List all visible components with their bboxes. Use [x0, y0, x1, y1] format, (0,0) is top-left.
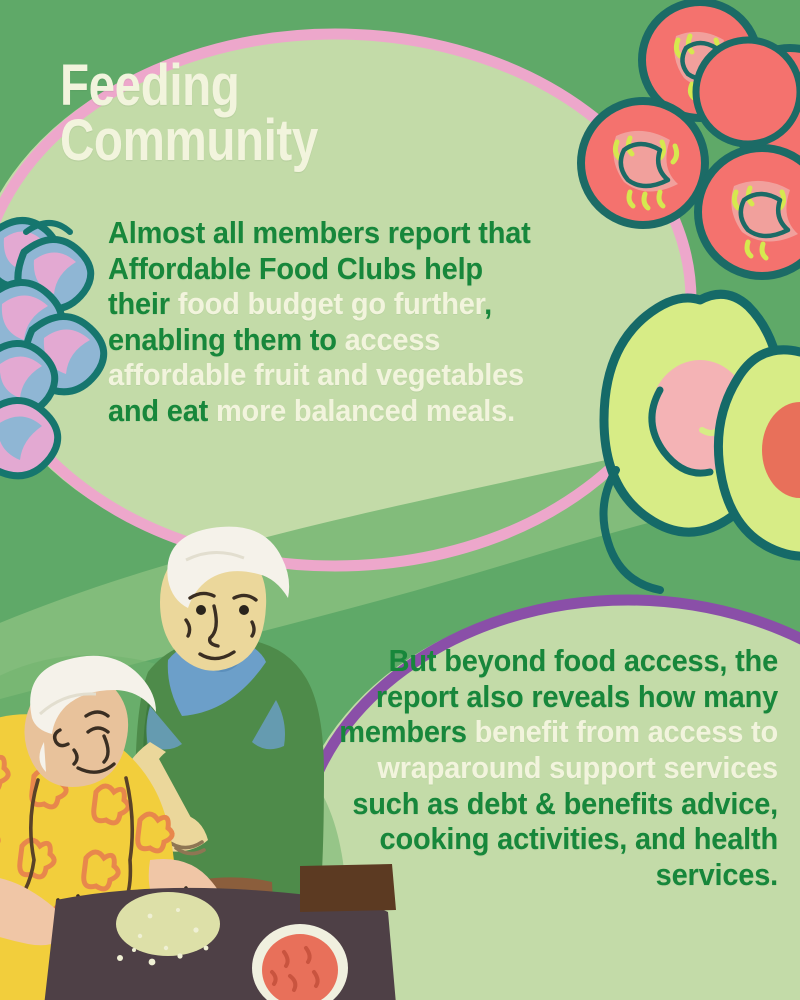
poster-canvas: Feeding Community Almost all members rep… — [0, 0, 800, 1000]
text-segment: more balanced meals. — [208, 394, 515, 428]
page-title: Feeding Community — [60, 58, 318, 168]
text-segment: food budget go further — [178, 287, 484, 321]
paragraph-wraparound-support: But beyond food access, the report also … — [339, 644, 778, 894]
paragraph-food-budget: Almost all members report that Affordabl… — [108, 216, 537, 429]
text-segment: enabling them to — [108, 323, 337, 357]
text-segment: such as debt & benefits advice, cooking … — [352, 787, 778, 892]
text-segment: , — [484, 287, 492, 321]
text-segment: and eat — [108, 394, 208, 428]
